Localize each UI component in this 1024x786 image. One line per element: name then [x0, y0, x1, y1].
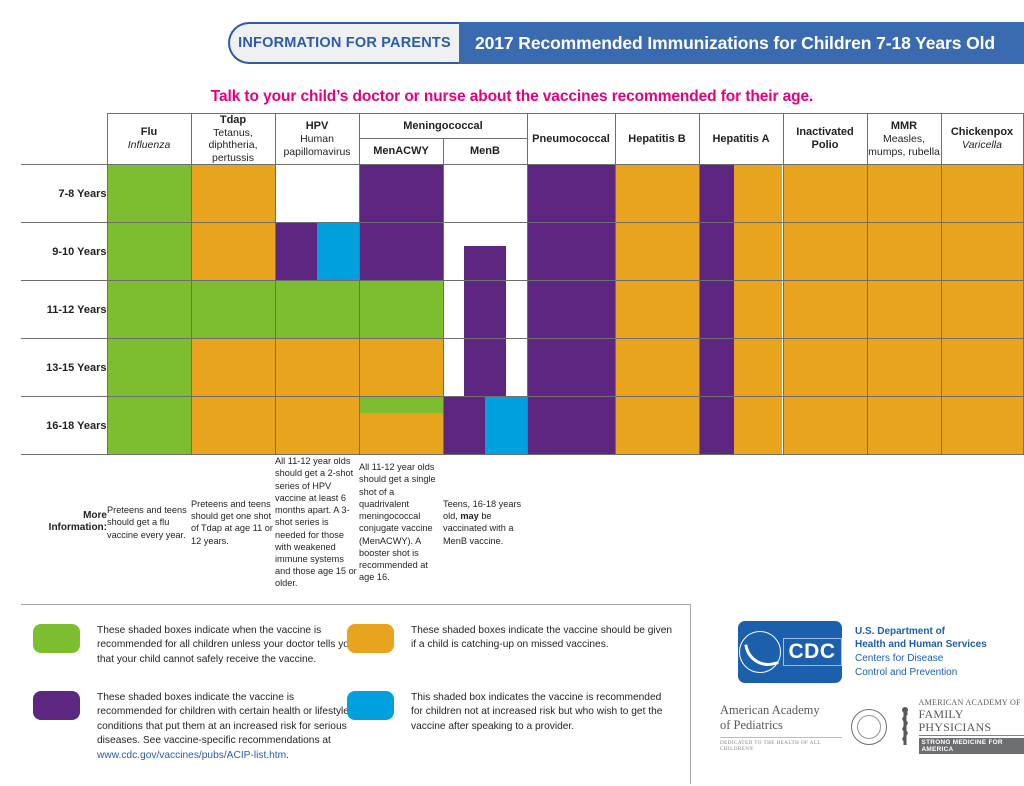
- schedule-cell[interactable]: [359, 165, 443, 223]
- schedule-cell[interactable]: [443, 223, 527, 281]
- title-banner: 2017 Recommended Immunizations for Child…: [437, 22, 1024, 64]
- column-header-menb: MenB: [443, 138, 527, 164]
- cell-segment-purple: [700, 223, 735, 280]
- cell-segment-orange: [616, 397, 699, 454]
- cell-bars: [868, 223, 941, 280]
- cdc-line4: Control and Prevention: [855, 666, 987, 680]
- legend-text-purple-before: These shaded boxes indicate the vaccine …: [97, 692, 349, 746]
- cdc-line3: Centers for Disease: [855, 652, 987, 666]
- schedule-cell[interactable]: [191, 223, 275, 281]
- schedule-cell[interactable]: [941, 281, 1023, 339]
- blue-swatch: [347, 691, 394, 720]
- legend-text-purple-after: .: [286, 750, 289, 761]
- footnote-cell-tdap: Preteens and teens should get one shot o…: [191, 455, 275, 590]
- schedule-cell[interactable]: [783, 339, 867, 397]
- cell-bars: [700, 281, 783, 338]
- cell-segment-orange: [868, 223, 941, 280]
- cell-bars: [528, 339, 615, 396]
- column-header-chickenpox: ChickenpoxVaricella: [941, 114, 1023, 165]
- caduceus-icon: [896, 707, 914, 747]
- cell-bars: [700, 339, 783, 396]
- cdc-line2: Health and Human Services: [855, 638, 987, 652]
- cell-segment-orange: [868, 165, 941, 222]
- footnote-cell-hepatitis-b: [615, 455, 699, 590]
- schedule-cell[interactable]: [275, 397, 359, 455]
- aafp-logo: AMERICAN ACADEMY OF FAMILY PHYSICIANS ST…: [896, 698, 1024, 756]
- cell-bars: [276, 165, 359, 222]
- cell-bars: [276, 397, 359, 454]
- cell-bars: [784, 223, 867, 280]
- cell-segment-orange: [360, 413, 443, 454]
- legend-item-blue: This shaded box indicates the vaccine is…: [347, 691, 675, 734]
- column-header-name: MenACWY: [360, 145, 443, 158]
- legend-item-green: These shaded boxes indicate when the vac…: [33, 624, 361, 667]
- column-header-subtitle: Tetanus, diphtheria, pertussis: [192, 127, 275, 164]
- cell-segment-orange: [276, 339, 359, 396]
- aap-logo: American Academy of Pediatrics DEDICATED…: [720, 703, 842, 752]
- cell-segment-purple: [464, 281, 506, 338]
- column-header-subtitle-italic: Influenza: [108, 139, 191, 151]
- schedule-cell[interactable]: [941, 397, 1023, 455]
- cell-segment-stack: [360, 397, 443, 454]
- cell-segment-orange: [784, 339, 867, 396]
- schedule-cell[interactable]: [941, 165, 1023, 223]
- cell-segment-purple: [700, 281, 735, 338]
- footnote-cell-inactivated-polio: [783, 455, 867, 590]
- cell-segment-orange: [192, 339, 275, 396]
- footnote-cell-chickenpox: [941, 455, 1023, 590]
- age-row-label-1: 7-8 Years: [21, 165, 107, 223]
- cell-bars: [700, 397, 783, 454]
- cell-segment-green: [108, 165, 191, 222]
- schedule-cell[interactable]: [107, 397, 191, 455]
- schedule-cell[interactable]: [615, 339, 699, 397]
- cell-bars: [108, 339, 191, 396]
- column-header-hepatitis-b: Hepatitis B: [615, 114, 699, 165]
- column-header-name: Hepatitis A: [700, 133, 783, 146]
- aafp-tagline: STRONG MEDICINE FOR AMERICA: [919, 738, 1024, 754]
- schedule-cell[interactable]: [107, 339, 191, 397]
- cell-segment-orange: [784, 223, 867, 280]
- cell-bars: [276, 339, 359, 396]
- schedule-cell[interactable]: [867, 281, 941, 339]
- cell-segment-blue: [317, 223, 359, 280]
- legend-item-orange: These shaded boxes indicate the vaccine …: [347, 624, 675, 653]
- cell-bars: [528, 281, 615, 338]
- cell-bars: [360, 165, 443, 222]
- cell-segment-purple: [528, 339, 615, 396]
- cell-segment-purple: [276, 223, 318, 280]
- schedule-cell[interactable]: [527, 223, 615, 281]
- footnote-cell-menb: Teens, 16-18 years old, may be vaccinate…: [443, 455, 527, 590]
- schedule-cell[interactable]: [527, 281, 615, 339]
- cell-segment-purple: [528, 397, 615, 454]
- column-header-subtitle: Measles, mumps, rubella: [868, 133, 941, 158]
- footnote-cell-menacwy: All 11-12 year olds should get a single …: [359, 455, 443, 590]
- schedule-cell[interactable]: [107, 281, 191, 339]
- cell-bars: [108, 165, 191, 222]
- cell-segment-green: [108, 223, 191, 280]
- cell-bars: [444, 339, 527, 396]
- cell-segment-purple: [528, 165, 615, 222]
- cell-bars: [360, 339, 443, 396]
- cell-segment-orange: [942, 165, 1023, 222]
- column-header-name: MMR: [868, 120, 941, 133]
- age-row-label-4: 13-15 Years: [21, 339, 107, 397]
- partner-logos: American Academy of Pediatrics DEDICATED…: [720, 698, 1024, 756]
- cdc-line1: U.S. Department of: [855, 625, 987, 639]
- cell-bars: [192, 339, 275, 396]
- immunization-schedule-table: FluInfluenzaTdapTetanus, diphtheria, per…: [21, 113, 1003, 590]
- cell-bars: [868, 397, 941, 454]
- schedule-cell[interactable]: [941, 339, 1023, 397]
- column-header-menacwy: MenACWY: [359, 138, 443, 164]
- cell-segment-orange: [784, 165, 867, 222]
- age-row-label-3: 11-12 Years: [21, 281, 107, 339]
- schedule-cell[interactable]: [275, 281, 359, 339]
- schedule-cell[interactable]: [867, 397, 941, 455]
- cell-bars: [868, 281, 941, 338]
- schedule-cell[interactable]: [867, 165, 941, 223]
- schedule-cell[interactable]: [615, 223, 699, 281]
- more-information-label: MoreInformation:: [21, 455, 107, 590]
- schedule-cell[interactable]: [359, 281, 443, 339]
- cell-segment-orange: [616, 165, 699, 222]
- cell-bars: [616, 165, 699, 222]
- cell-segment-purple: [444, 397, 486, 454]
- cell-bars: [528, 397, 615, 454]
- cell-segment-purple: [700, 165, 735, 222]
- cell-segment-green: [192, 281, 275, 338]
- legend-panel: These shaded boxes indicate when the vac…: [21, 604, 691, 784]
- aap-seal-icon: [851, 709, 887, 745]
- schedule-cell[interactable]: [699, 397, 783, 455]
- aap-line2: of Pediatrics: [720, 718, 842, 733]
- aap-tagline: DEDICATED TO THE HEALTH OF ALL CHILDREN®: [720, 737, 842, 752]
- age-row-label-5: 16-18 Years: [21, 397, 107, 455]
- cell-segment-purple: [464, 246, 506, 280]
- footnote-emphasis: may: [460, 511, 478, 521]
- cell-segment-orange: [868, 397, 941, 454]
- age-row-label-2: 9-10 Years: [21, 223, 107, 281]
- cell-segment-orange: [192, 223, 275, 280]
- information-for-parents-tab: INFORMATION FOR PARENTS: [228, 22, 459, 64]
- cell-segment-orange: [192, 165, 275, 222]
- cell-segment-green: [108, 397, 191, 454]
- cell-segment-orange: [868, 281, 941, 338]
- column-header-name: HPV: [276, 120, 359, 133]
- schedule-cell[interactable]: [527, 397, 615, 455]
- information-for-parents-label: INFORMATION FOR PARENTS: [238, 35, 451, 51]
- cell-bars: [700, 223, 783, 280]
- schedule-cell[interactable]: [783, 165, 867, 223]
- cell-bars: [360, 223, 443, 280]
- green-swatch: [33, 624, 80, 653]
- cell-bars: [868, 165, 941, 222]
- schedule-cell[interactable]: [275, 339, 359, 397]
- cell-segment-orange: [942, 397, 1023, 454]
- cell-segment-purple: [528, 281, 615, 338]
- acip-list-link[interactable]: www.cdc.gov/vaccines/pubs/ACIP-list.htm: [97, 750, 286, 761]
- cell-bars: [528, 165, 615, 222]
- cell-bars: [616, 281, 699, 338]
- schedule-cell[interactable]: [615, 165, 699, 223]
- table-corner-cell: [21, 114, 107, 165]
- cell-segment-orange: [616, 223, 699, 280]
- column-header-pneumococcal: Pneumococcal: [527, 114, 615, 165]
- schedule-cell[interactable]: [443, 165, 527, 223]
- schedule-cell[interactable]: [359, 397, 443, 455]
- legend-text-orange: These shaded boxes indicate the vaccine …: [411, 624, 675, 653]
- cell-segment-purple: [700, 339, 735, 396]
- footnote-cell-hpv: All 11-12 year olds should get a 2-shot …: [275, 455, 359, 590]
- cell-bars: [784, 281, 867, 338]
- cell-bars: [616, 339, 699, 396]
- schedule-cell[interactable]: [783, 281, 867, 339]
- cell-segment-purple: [528, 223, 615, 280]
- cell-bars: [942, 281, 1023, 338]
- schedule-cell[interactable]: [191, 339, 275, 397]
- column-group-header-meningococcal: Meningococcal: [359, 114, 527, 139]
- cell-segment-blue: [485, 397, 527, 454]
- cell-bars: [444, 165, 527, 222]
- schedule-cell[interactable]: [699, 339, 783, 397]
- cell-segment-green: [108, 281, 191, 338]
- column-header-hpv: HPVHuman papillomavirus: [275, 114, 359, 165]
- cell-bars: [276, 223, 359, 280]
- cdc-logo: CDC U.S. Department of Health and Human …: [738, 621, 987, 683]
- cell-segment-purple: [464, 339, 506, 396]
- cell-bars: [444, 397, 527, 454]
- header-banner: INFORMATION FOR PARENTS 2017 Recommended…: [228, 22, 1024, 64]
- column-header-name: Hepatitis B: [616, 133, 699, 146]
- cell-segment-green: [360, 281, 443, 338]
- table-row: 16-18 Years: [21, 397, 1023, 455]
- schedule-cell[interactable]: [359, 339, 443, 397]
- aafp-line2: FAMILY PHYSICIANS: [919, 708, 1024, 736]
- more-information-row: MoreInformation:Preteens and teens shoul…: [21, 455, 1023, 590]
- orange-swatch: [347, 624, 394, 653]
- cell-segment-orange: [192, 397, 275, 454]
- legend-text-blue: This shaded box indicates the vaccine is…: [411, 691, 675, 734]
- tagline: Talk to your child’s doctor or nurse abo…: [0, 88, 1024, 106]
- schedule-cell[interactable]: [107, 223, 191, 281]
- cell-segment-orange: [868, 339, 941, 396]
- cell-segment-orange: [784, 281, 867, 338]
- column-header-name: Flu: [108, 126, 191, 139]
- schedule-cell[interactable]: [443, 281, 527, 339]
- table-row: 7-8 Years: [21, 165, 1023, 223]
- cell-segment-purple: [360, 165, 443, 222]
- cdc-logo-mark: CDC: [738, 621, 842, 683]
- schedule-cell[interactable]: [941, 223, 1023, 281]
- table-row: 11-12 Years: [21, 281, 1023, 339]
- cell-bars: [942, 223, 1023, 280]
- column-header-tdap: TdapTetanus, diphtheria, pertussis: [191, 114, 275, 165]
- cell-bars: [616, 223, 699, 280]
- cell-bars: [444, 223, 527, 280]
- cell-bars: [942, 165, 1023, 222]
- cell-segment-orange: [360, 339, 443, 396]
- cell-segment-orange: [616, 281, 699, 338]
- column-header-mmr: MMRMeasles, mumps, rubella: [867, 114, 941, 165]
- schedule-cell[interactable]: [699, 165, 783, 223]
- schedule-cell[interactable]: [191, 281, 275, 339]
- column-header-name: Inactivated Polio: [784, 126, 867, 152]
- footnote-cell-hepatitis-a: [699, 455, 783, 590]
- hhs-seal-icon: [739, 631, 781, 673]
- cell-segment-orange: [734, 397, 782, 454]
- cell-bars: [276, 281, 359, 338]
- aap-line1: American Academy: [720, 703, 842, 718]
- cell-bars: [528, 223, 615, 280]
- cell-segment-orange: [734, 339, 782, 396]
- legend-text-green: These shaded boxes indicate when the vac…: [97, 624, 361, 667]
- cell-segment-purple: [700, 397, 735, 454]
- cell-segment-orange: [784, 397, 867, 454]
- legend-item-purple: These shaded boxes indicate the vaccine …: [33, 691, 361, 763]
- column-header-name: Tdap: [192, 114, 275, 127]
- cell-segment-green: [276, 281, 359, 338]
- footnote-cell-flu: Preteens and teens should get a flu vacc…: [107, 455, 191, 590]
- schedule-cell[interactable]: [783, 397, 867, 455]
- cell-bars: [108, 397, 191, 454]
- cell-bars: [616, 397, 699, 454]
- cell-bars: [192, 281, 275, 338]
- schedule-cell[interactable]: [275, 165, 359, 223]
- cell-segment-orange: [942, 223, 1023, 280]
- schedule-cell[interactable]: [191, 397, 275, 455]
- table-row: 13-15 Years: [21, 339, 1023, 397]
- footnote-cell-mmr: [867, 455, 941, 590]
- schedule-cell[interactable]: [275, 223, 359, 281]
- schedule-cell[interactable]: [527, 165, 615, 223]
- cell-bars: [784, 397, 867, 454]
- cell-segment-orange: [734, 223, 782, 280]
- schedule-cell[interactable]: [867, 223, 941, 281]
- table-header-row-1: FluInfluenzaTdapTetanus, diphtheria, per…: [21, 114, 1023, 139]
- cell-bars: [700, 165, 783, 222]
- column-header-flu: FluInfluenza: [107, 114, 191, 165]
- cell-bars: [444, 281, 527, 338]
- more-information-label-line1: More: [21, 510, 107, 523]
- cell-bars: [942, 339, 1023, 396]
- schedule-cell[interactable]: [443, 339, 527, 397]
- schedule-cell[interactable]: [699, 223, 783, 281]
- cell-bars: [360, 281, 443, 338]
- cell-segment-orange: [942, 339, 1023, 396]
- cell-bars: [360, 397, 443, 454]
- cell-bars: [192, 223, 275, 280]
- footnote-cell-pneumococcal: [527, 455, 615, 590]
- cell-bars: [192, 397, 275, 454]
- cell-bars: [784, 165, 867, 222]
- cdc-wordmark: CDC: [783, 638, 842, 666]
- cell-segment-orange: [942, 281, 1023, 338]
- schedule-cell[interactable]: [191, 165, 275, 223]
- column-header-hepatitis-a: Hepatitis A: [699, 114, 783, 165]
- schedule-cell[interactable]: [107, 165, 191, 223]
- cell-bars: [192, 165, 275, 222]
- cell-bars: [784, 339, 867, 396]
- schedule-cell[interactable]: [699, 281, 783, 339]
- cell-bars: [942, 397, 1023, 454]
- cell-segment-green: [360, 397, 443, 413]
- column-header-name: Chickenpox: [942, 126, 1023, 139]
- schedule-cell[interactable]: [443, 397, 527, 455]
- column-header-name: Pneumococcal: [528, 133, 615, 146]
- cell-bars: [108, 281, 191, 338]
- cell-segment-orange: [616, 339, 699, 396]
- aafp-wordmark: AMERICAN ACADEMY OF FAMILY PHYSICIANS ST…: [919, 698, 1024, 756]
- cell-bars: [868, 339, 941, 396]
- legend-text-purple: These shaded boxes indicate the vaccine …: [97, 691, 361, 763]
- logos-panel: CDC U.S. Department of Health and Human …: [712, 604, 1024, 784]
- column-header-name: MenB: [444, 145, 527, 158]
- cell-segment-orange: [734, 281, 782, 338]
- cell-segment-orange: [276, 397, 359, 454]
- cell-bars: [108, 223, 191, 280]
- column-header-subtitle: Human papillomavirus: [276, 133, 359, 158]
- column-header-subtitle-italic: Varicella: [942, 139, 1023, 151]
- purple-swatch: [33, 691, 80, 720]
- column-header-inactivated-polio: Inactivated Polio: [783, 114, 867, 165]
- page-title: 2017 Recommended Immunizations for Child…: [475, 33, 995, 54]
- more-information-label-line2: Information:: [21, 522, 107, 535]
- cell-segment-purple: [360, 223, 443, 280]
- cell-segment-green: [108, 339, 191, 396]
- schedule-cell[interactable]: [867, 339, 941, 397]
- schedule-cell[interactable]: [359, 223, 443, 281]
- table-row: 9-10 Years: [21, 223, 1023, 281]
- schedule-cell[interactable]: [783, 223, 867, 281]
- schedule-cell[interactable]: [527, 339, 615, 397]
- schedule-cell[interactable]: [615, 281, 699, 339]
- schedule-cell[interactable]: [615, 397, 699, 455]
- cdc-agency-text: U.S. Department of Health and Human Serv…: [855, 625, 987, 680]
- cell-segment-orange: [734, 165, 782, 222]
